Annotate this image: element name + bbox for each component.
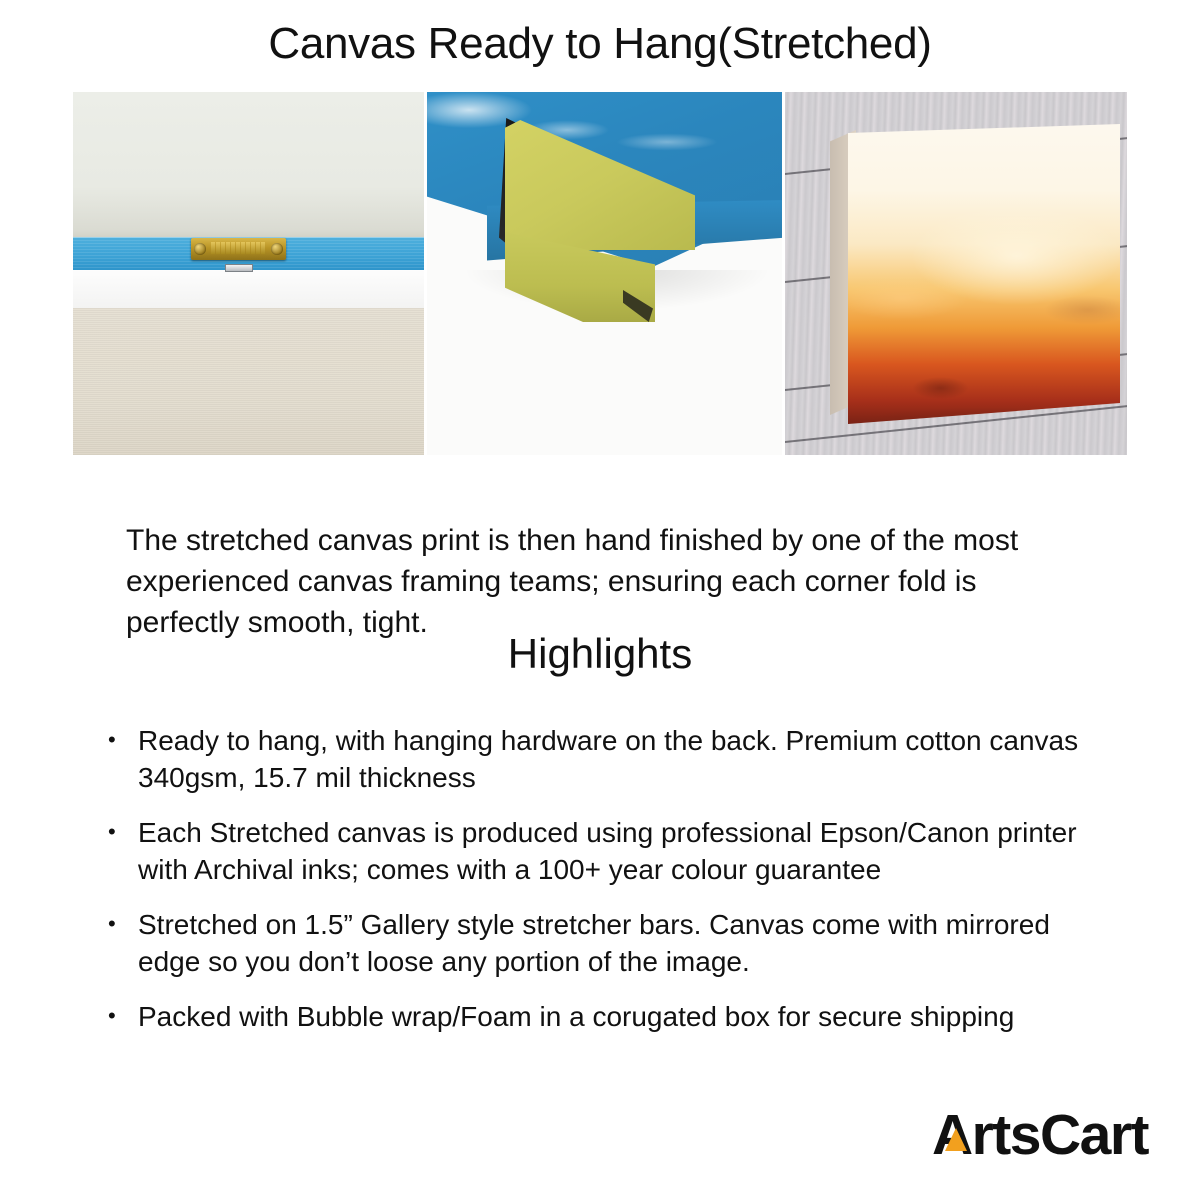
- highlight-item: Packed with Bubble wrap/Foam in a coruga…: [104, 998, 1114, 1035]
- highlight-item: Ready to hang, with hanging hardware on …: [104, 722, 1114, 796]
- photo-canvas-corner-fold-detail: [427, 92, 782, 455]
- page-title: Canvas Ready to Hang(Stretched): [0, 16, 1200, 72]
- photo-hung-canvas-on-wood-wall: [785, 92, 1127, 455]
- screw-icon-right: [271, 243, 283, 255]
- highlights-list: Ready to hang, with hanging hardware on …: [104, 722, 1114, 1053]
- product-photo-strip: [73, 92, 1127, 455]
- photo-canvas-back-with-sawtooth-hanger: [73, 92, 424, 455]
- hanger-tab: [225, 264, 253, 272]
- description-paragraph: The stretched canvas print is then hand …: [126, 520, 1074, 643]
- canvas-back-fabric: [73, 308, 424, 455]
- highlight-item: Stretched on 1.5” Gallery style stretche…: [104, 906, 1114, 980]
- highlights-heading: Highlights: [0, 628, 1200, 680]
- sawtooth-teeth: [211, 242, 266, 254]
- screw-icon-left: [194, 243, 206, 255]
- sawtooth-hanger-icon: [191, 238, 286, 260]
- canvas-white-band: [73, 270, 424, 312]
- brand-logo: ArtsCart: [932, 1104, 1148, 1166]
- canvas-sunset-landscape-print: [848, 124, 1120, 424]
- triangle-icon: [945, 1128, 967, 1151]
- highlight-item: Each Stretched canvas is produced using …: [104, 814, 1114, 888]
